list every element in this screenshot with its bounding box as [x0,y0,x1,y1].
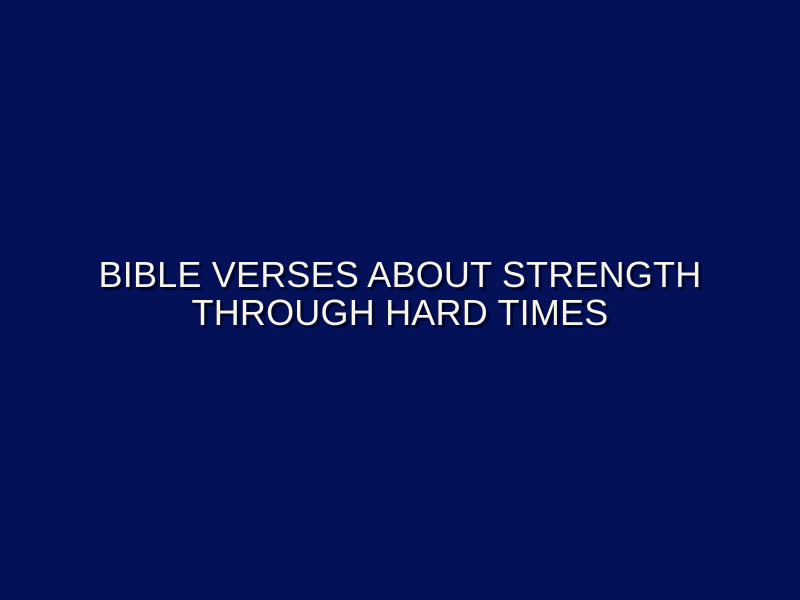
slide-canvas: BIBLE VERSES ABOUT STRENGTH THROUGH HARD… [0,0,800,600]
title-line-1: BIBLE VERSES ABOUT STRENGTH [80,256,720,294]
title-line-2: THROUGH HARD TIMES [80,294,720,332]
page-title: BIBLE VERSES ABOUT STRENGTH THROUGH HARD… [80,256,720,332]
